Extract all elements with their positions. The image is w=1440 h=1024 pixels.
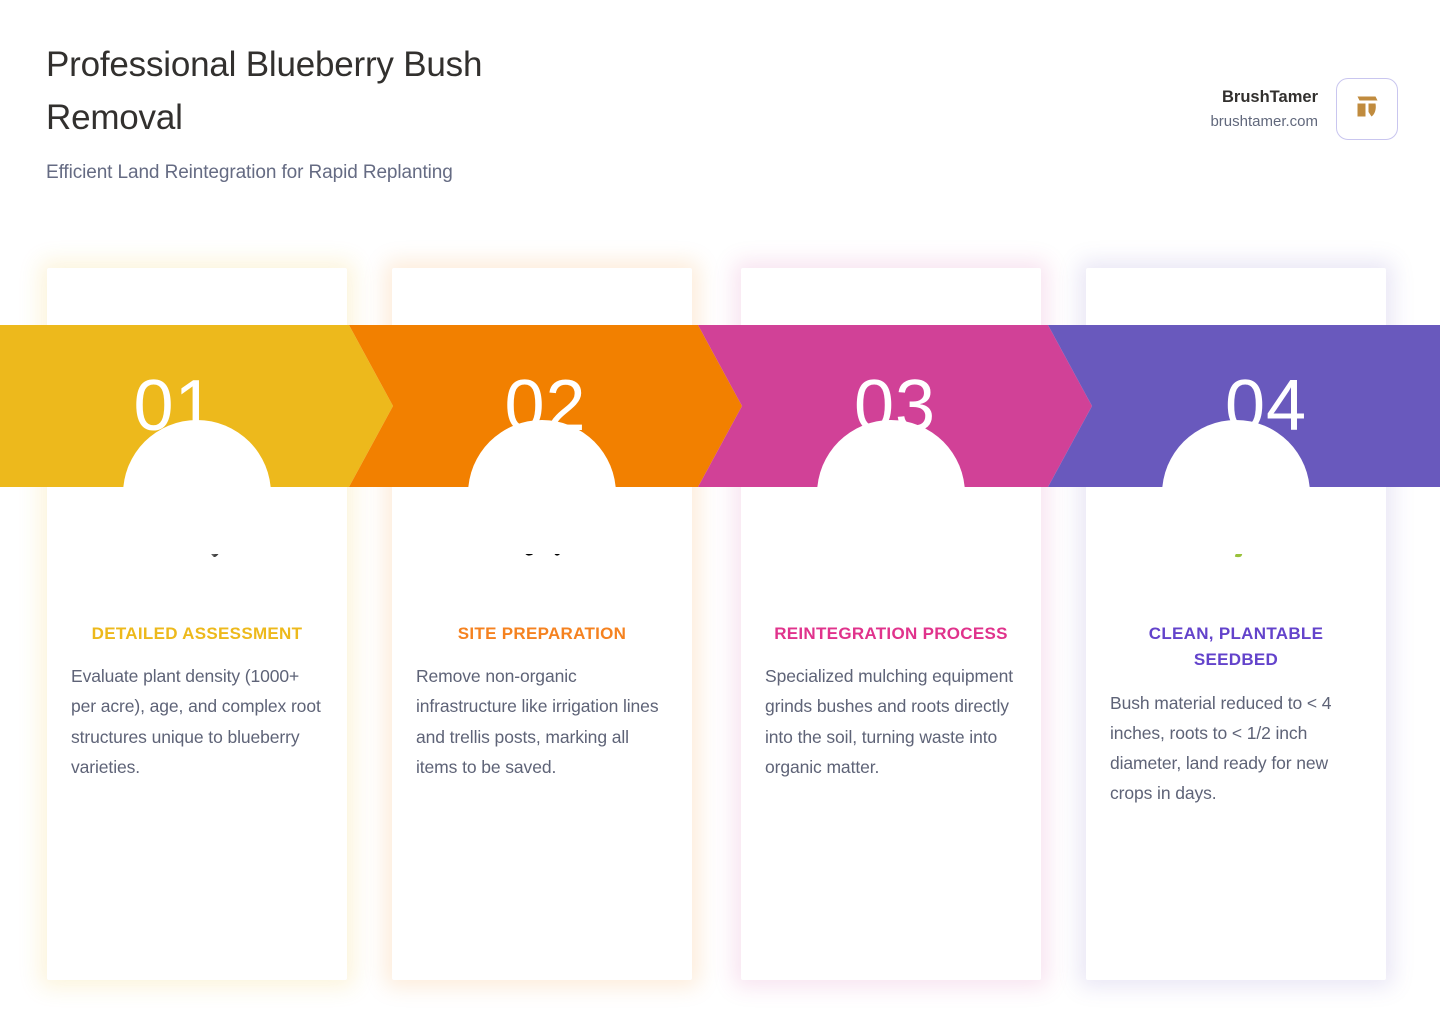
brand-logo (1336, 78, 1398, 140)
title-block: Professional Blueberry Bush Removal Effi… (46, 38, 866, 187)
step-heading: CLEAN, PLANTABLE SEEDBED (1110, 621, 1362, 674)
page-subtitle: Efficient Land Reintegration for Rapid R… (46, 160, 866, 187)
brand-url: brushtamer.com (1210, 112, 1318, 132)
step-number-banner: 01 02 03 04 (0, 325, 1440, 487)
brand-name: BrushTamer (1210, 86, 1318, 108)
brand-block: BrushTamer brushtamer.com (1210, 78, 1398, 140)
step-heading: REINTEGRATION PROCESS (765, 621, 1017, 647)
step-body: Bush material reduced to < 4 inches, roo… (1110, 688, 1362, 808)
infographic-page: Professional Blueberry Bush Removal Effi… (0, 0, 1440, 1024)
page-title: Professional Blueberry Bush Removal (46, 38, 546, 144)
brushtamer-logo-icon (1350, 90, 1384, 129)
step-body: Remove non-organic infrastructure like i… (416, 661, 668, 781)
brand-text: BrushTamer brushtamer.com (1210, 86, 1318, 132)
step-body: Specialized mulching equipment grinds bu… (765, 661, 1017, 781)
step-heading: SITE PREPARATION (416, 621, 668, 647)
step-heading: DETAILED ASSESSMENT (71, 621, 323, 647)
header: Professional Blueberry Bush Removal Effi… (0, 0, 1440, 230)
step-body: Evaluate plant density (1000+ per acre),… (71, 661, 323, 781)
step-card-content: 🌱 CLEAN, PLANTABLE SEEDBED Bush material… (1086, 513, 1386, 808)
